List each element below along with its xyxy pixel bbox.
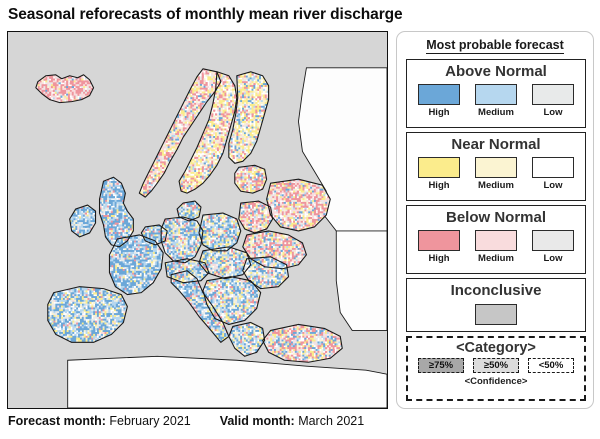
legend-panel: Most probable forecast Above Normal High…: [396, 31, 594, 409]
caption: Forecast month: February 2021 Valid mont…: [8, 414, 364, 428]
swatch-label-medium: Medium: [474, 107, 518, 118]
swatch-cell-low: Low: [531, 230, 575, 264]
valid-month-label: Valid month:: [220, 414, 295, 428]
swatch-below-normal-low: [532, 230, 574, 251]
legend-group-above-normal: Above Normal High Medium Low: [406, 59, 586, 128]
swatch-below-normal-high: [418, 230, 460, 251]
swatch-label-low: Low: [531, 180, 575, 191]
legend-group-below-normal: Below Normal High Medium Low: [406, 205, 586, 274]
explainer-title: <Category>: [408, 340, 584, 357]
swatch-above-normal-high: [418, 84, 460, 105]
swatch-cell-high: High: [417, 157, 461, 191]
europe-discharge-map[interactable]: [8, 32, 387, 408]
explainer-confidence-row: ≥75% ≥50% <50%: [408, 358, 584, 373]
legend-group-near-normal: Near Normal High Medium Low: [406, 132, 586, 201]
forecast-month-label: Forecast month:: [8, 414, 106, 428]
swatch-cell-medium: Medium: [474, 157, 518, 191]
legend-group-title: Inconclusive: [407, 282, 585, 300]
legend-header-text: Most probable forecast: [426, 38, 564, 54]
map-panel[interactable]: [7, 31, 388, 409]
swatch-cell-medium: Medium: [474, 84, 518, 118]
legend-group-inconclusive: Inconclusive: [406, 278, 586, 332]
swatch-near-normal-high: [418, 157, 460, 178]
swatch-label-high: High: [417, 253, 461, 264]
swatch-near-normal-low: [532, 157, 574, 178]
legend-header: Most probable forecast: [397, 38, 593, 52]
swatch-cell-low: Low: [531, 157, 575, 191]
valid-month-value: March 2021: [298, 414, 364, 428]
forecast-figure: Seasonal reforecasts of monthly mean riv…: [0, 0, 600, 439]
swatch-near-normal-medium: [475, 157, 517, 178]
swatch-cell-high: High: [417, 84, 461, 118]
explainer-footer: <Confidence>: [408, 376, 584, 387]
legend-group-title: Above Normal: [407, 63, 585, 81]
confidence-chip-high: ≥75%: [418, 358, 464, 373]
legend-group-title: Near Normal: [407, 136, 585, 154]
swatch-label-medium: Medium: [474, 180, 518, 191]
swatch-label-high: High: [417, 180, 461, 191]
swatch-row-above-normal: High Medium Low: [407, 84, 585, 118]
swatch-cell-high: High: [417, 230, 461, 264]
swatch-below-normal-medium: [475, 230, 517, 251]
swatch-row-below-normal: High Medium Low: [407, 230, 585, 264]
swatch-cell-low: Low: [531, 84, 575, 118]
swatch-row-near-normal: High Medium Low: [407, 157, 585, 191]
legend-group-title: Below Normal: [407, 209, 585, 227]
swatch-above-normal-medium: [475, 84, 517, 105]
legend-explainer: <Category> ≥75% ≥50% <50% <Confidence>: [406, 336, 586, 401]
swatch-label-low: Low: [531, 253, 575, 264]
page-title: Seasonal reforecasts of monthly mean riv…: [8, 6, 403, 24]
swatch-above-normal-low: [532, 84, 574, 105]
swatch-inconclusive: [475, 304, 517, 325]
confidence-chip-medium: ≥50%: [473, 358, 519, 373]
swatch-label-high: High: [417, 107, 461, 118]
swatch-label-low: Low: [531, 107, 575, 118]
nodata-region: [336, 231, 387, 330]
swatch-label-medium: Medium: [474, 253, 518, 264]
forecast-month-value: February 2021: [109, 414, 190, 428]
swatch-cell-medium: Medium: [474, 230, 518, 264]
confidence-chip-low: <50%: [528, 358, 574, 373]
